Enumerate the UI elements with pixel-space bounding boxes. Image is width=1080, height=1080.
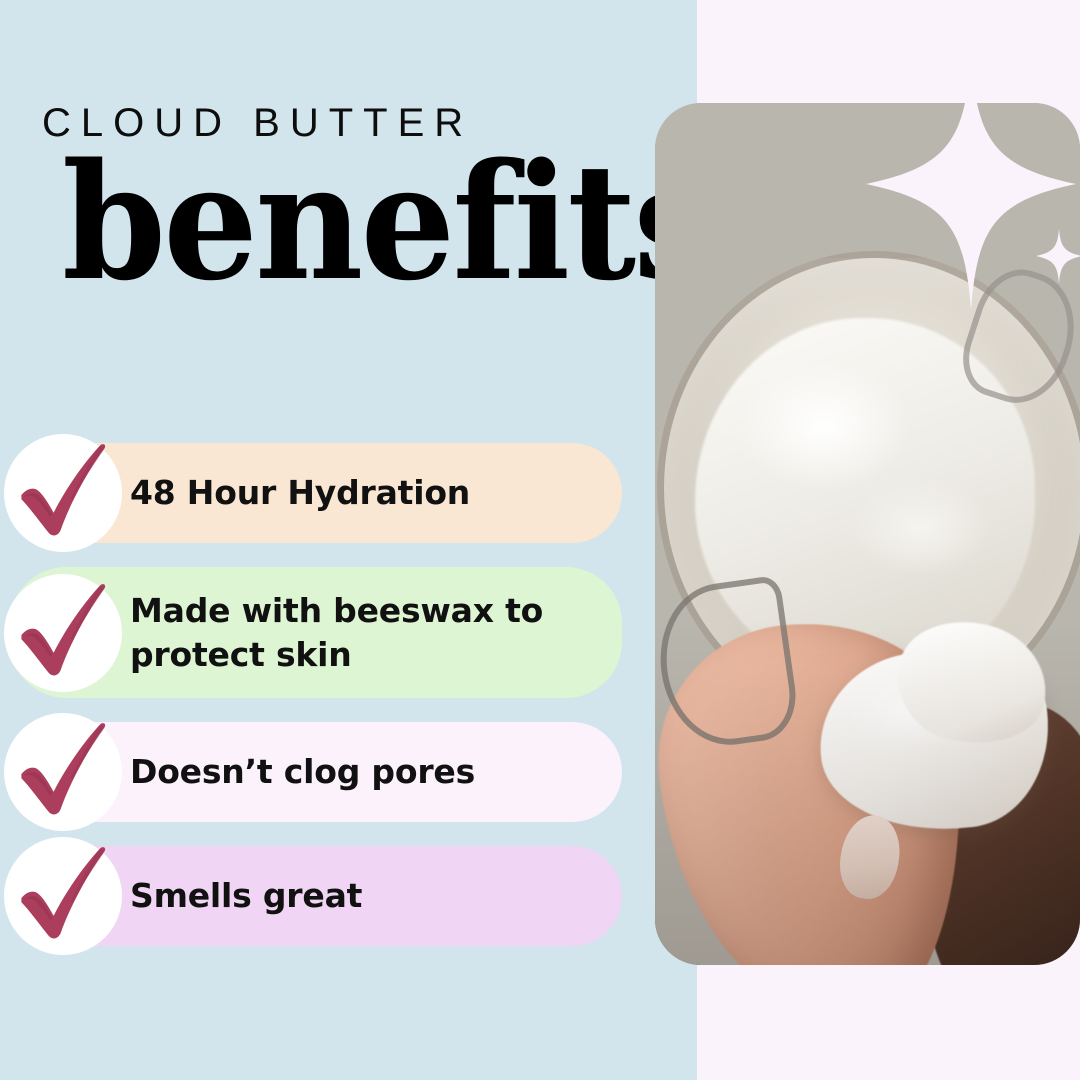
benefit-label-3: Doesn’t clog pores	[130, 750, 475, 794]
page-title: benefits	[62, 142, 714, 302]
benefits-list: 48 Hour Hydration Made with beeswax to p…	[0, 443, 660, 970]
photo-vignette	[655, 103, 1080, 965]
benefit-label-2: Made with beeswax to protect skin	[130, 589, 594, 676]
benefits-graphic: CLOUD BUTTER benefits 48 Hour Hydration …	[0, 0, 1080, 1080]
check-mark-icon	[4, 574, 122, 692]
product-photo-card	[655, 103, 1080, 965]
check-mark-icon	[4, 434, 122, 552]
list-item: Smells great	[0, 846, 660, 946]
list-item: 48 Hour Hydration	[0, 443, 660, 543]
list-item: Made with beeswax to protect skin	[0, 567, 660, 698]
list-item: Doesn’t clog pores	[0, 722, 660, 822]
check-mark-icon	[4, 837, 122, 955]
product-photo-image	[655, 103, 1080, 965]
benefit-label-4: Smells great	[130, 874, 362, 918]
benefit-label-1: 48 Hour Hydration	[130, 471, 470, 515]
check-mark-icon	[4, 713, 122, 831]
